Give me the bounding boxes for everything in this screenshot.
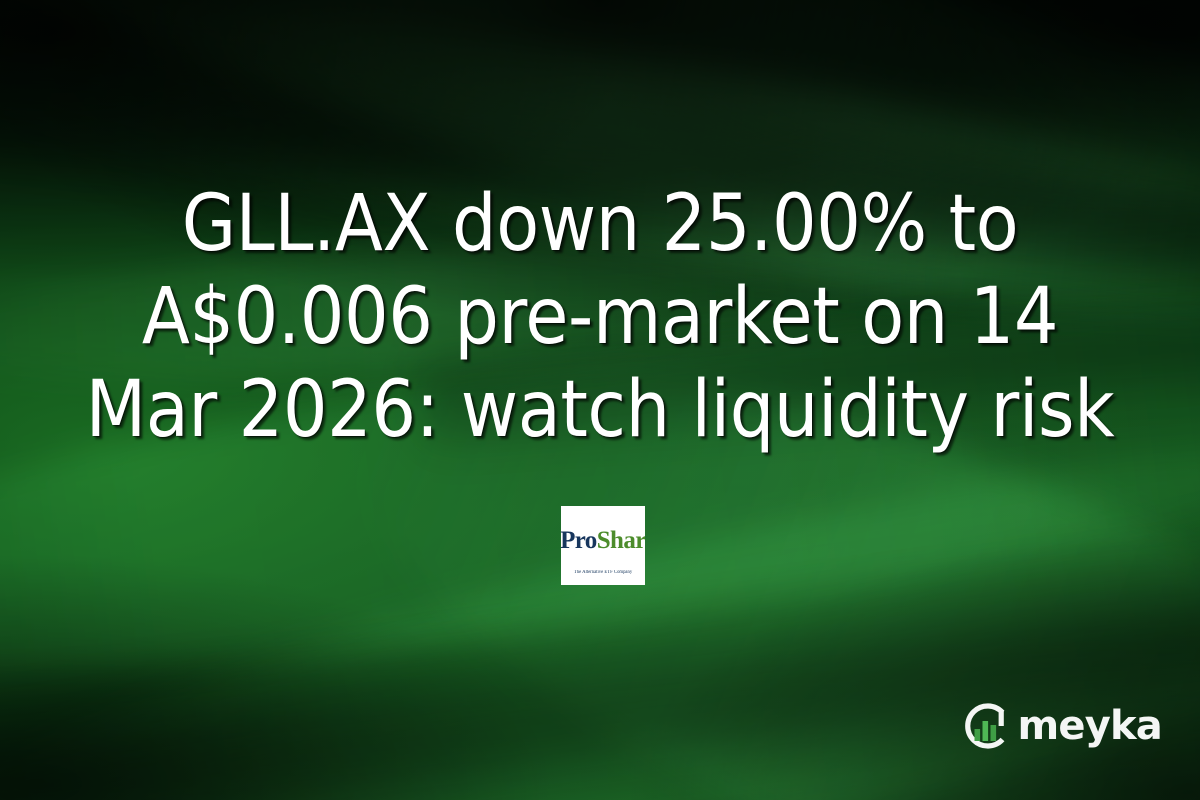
social-share-card: GLL.AX down 25.00% to A$0.006 pre-market… bbox=[0, 0, 1200, 800]
brand-logo-row: ProShares bbox=[561, 521, 645, 561]
brand-logo-proshares: ProShares The Alternative ETF Company bbox=[561, 506, 645, 585]
brand-tagline: The Alternative ETF Company bbox=[574, 570, 632, 575]
meyka-watermark: meyka bbox=[960, 700, 1162, 752]
meyka-wordmark: meyka bbox=[1018, 706, 1162, 746]
headline-line-2: A$0.006 pre-market on 14 bbox=[40, 271, 1160, 364]
brand-wordmark: ProShares bbox=[561, 528, 645, 553]
headline-line-3: Mar 2026: watch liquidity risk bbox=[40, 364, 1160, 457]
headline: GLL.AX down 25.00% to A$0.006 pre-market… bbox=[0, 178, 1200, 457]
brand-wordmark-pro: Pro bbox=[561, 527, 597, 554]
headline-line-1: GLL.AX down 25.00% to bbox=[40, 178, 1160, 271]
meyka-bar-chart-ring-icon bbox=[960, 700, 1012, 752]
brand-wordmark-shares: Shares bbox=[597, 527, 645, 554]
